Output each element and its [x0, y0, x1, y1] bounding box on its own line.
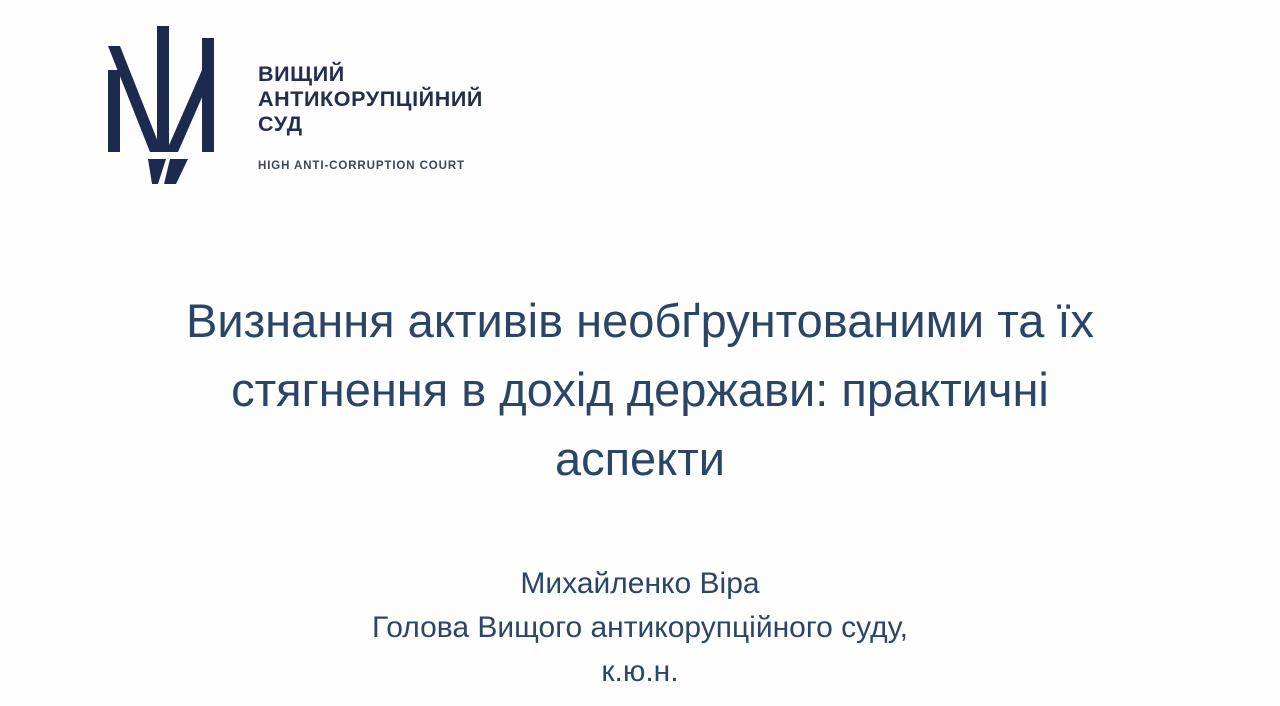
- court-logo-lockup: ВИЩИЙ АНТИКОРУПЦІЙНИЙ СУД HIGH ANTI-CORR…: [106, 26, 483, 184]
- logo-title-uk: ВИЩИЙ АНТИКОРУПЦІЙНИЙ СУД: [258, 62, 483, 137]
- trident-emblem-icon: [106, 26, 228, 184]
- logo-subtitle-en: HIGH ANTI-CORRUPTION COURT: [258, 159, 483, 173]
- author-name: Михайленко Віра: [60, 562, 1220, 606]
- title-block: Визнання активів необґрунтованими та їх …: [60, 286, 1220, 493]
- page-title: Визнання активів необґрунтованими та їх …: [60, 286, 1220, 493]
- title-line-2: стягнення в дохід держави: практичні: [60, 355, 1220, 424]
- author-position: Голова Вищого антикорупційного суду,: [60, 606, 1220, 650]
- title-line-3: аспекти: [60, 424, 1220, 493]
- presentation-slide: ВИЩИЙ АНТИКОРУПЦІЙНИЙ СУД HIGH ANTI-CORR…: [0, 0, 1280, 706]
- title-line-1: Визнання активів необґрунтованими та їх: [60, 286, 1220, 355]
- author-degree: к.ю.н.: [60, 650, 1220, 694]
- author-block: Михайленко Віра Голова Вищого антикорупц…: [60, 562, 1220, 694]
- logo-text-block: ВИЩИЙ АНТИКОРУПЦІЙНИЙ СУД HIGH ANTI-CORR…: [258, 26, 483, 173]
